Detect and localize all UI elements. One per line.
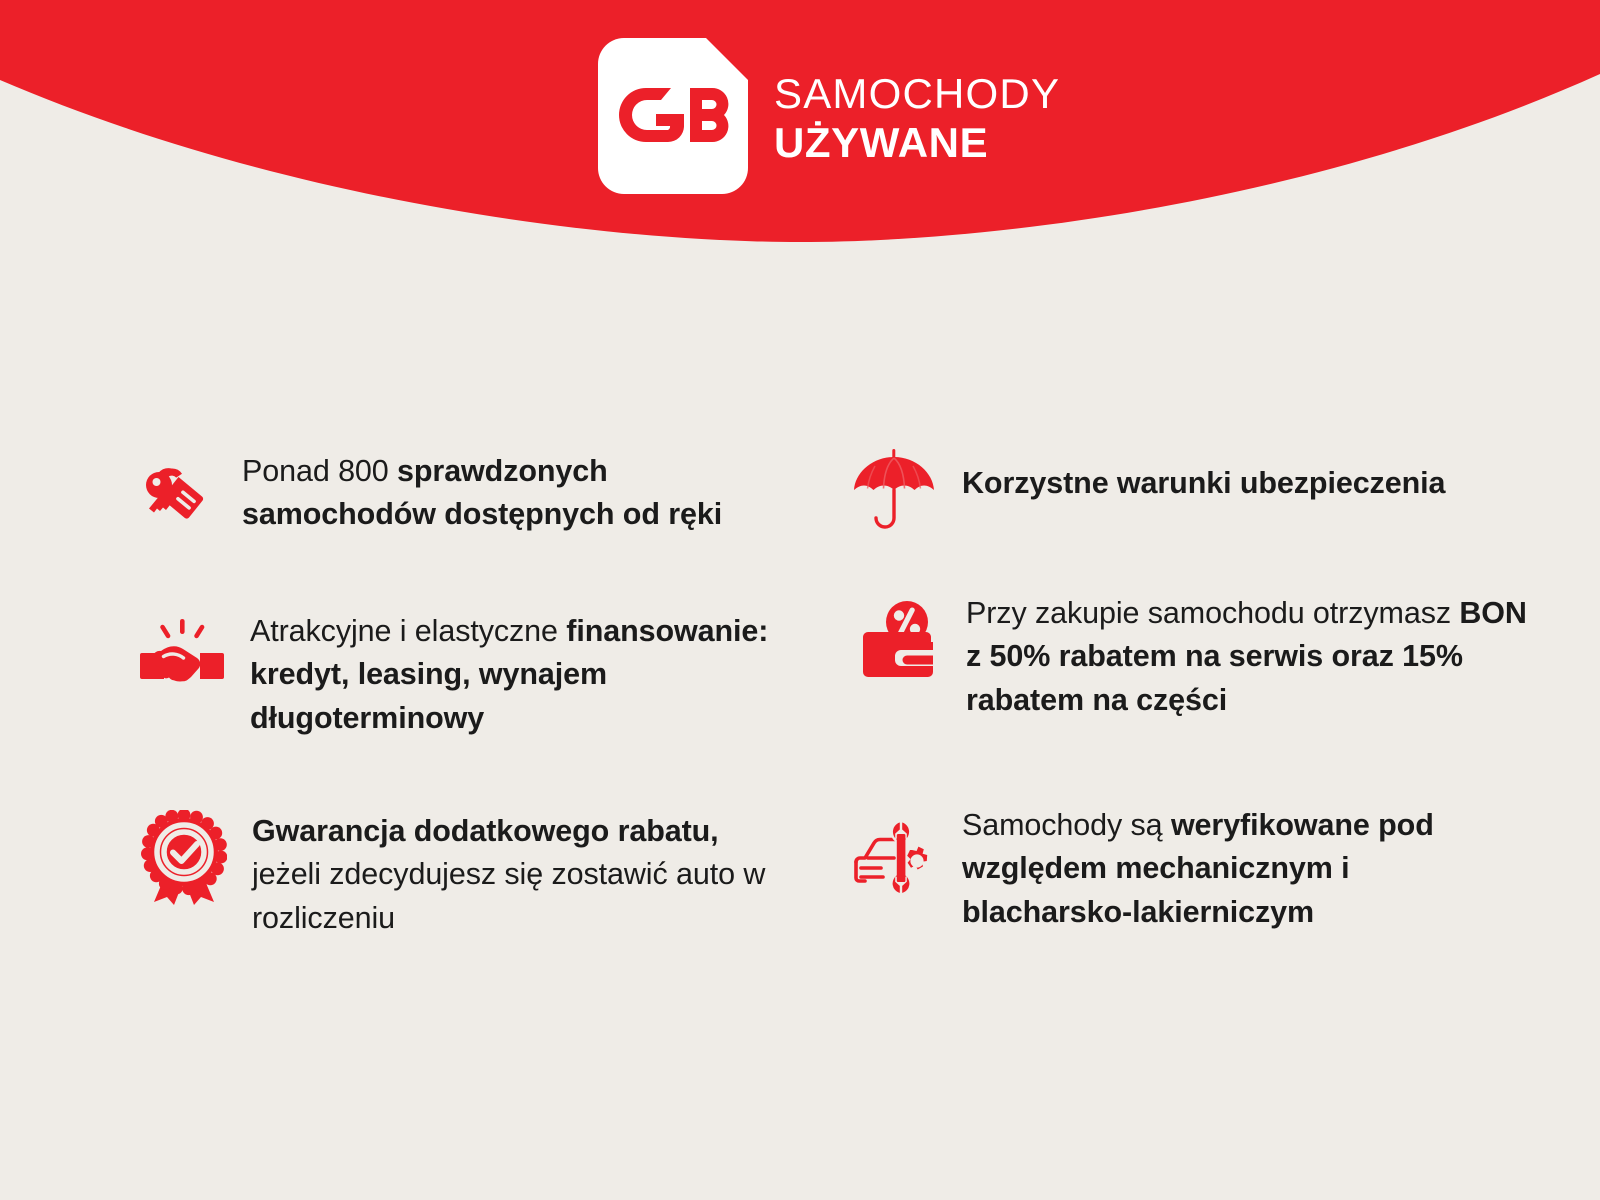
logo-lockup[interactable]: SAMOCHODY UŻYWANE <box>598 32 1058 200</box>
gb-monogram-svg <box>598 38 748 194</box>
umbrella-icon <box>848 440 940 540</box>
benefit-text: Korzystne warunki ubezpieczenia <box>962 440 1445 505</box>
logo-line-samochody: SAMOCHODY <box>774 73 1060 115</box>
car-wrench-gear-icon <box>848 802 940 902</box>
benefit-text: Ponad 800 sprawdzonych samochodów dostęp… <box>242 448 788 537</box>
benefit-item: Atrakcyjne i elastyczne finansowanie: kr… <box>136 608 788 740</box>
award-rosette-icon <box>138 808 230 908</box>
benefit-item: Ponad 800 sprawdzonych samochodów dostęp… <box>128 448 788 548</box>
handshake-icon <box>136 608 228 708</box>
benefit-item: Korzystne warunki ubezpieczenia <box>848 440 1445 540</box>
gb-monogram-icon <box>598 38 748 194</box>
wallet-percent-icon <box>852 590 944 690</box>
logo-line-uzywane: UŻYWANE <box>774 122 1060 164</box>
benefit-text: Samochody są weryfikowane pod względem m… <box>962 802 1528 934</box>
car-keys-icon <box>128 448 220 548</box>
benefit-item: Przy zakupie samochodu otrzymasz BON z 5… <box>852 590 1528 722</box>
logo-wordmark: SAMOCHODY UŻYWANE <box>774 69 1060 164</box>
benefit-text: Przy zakupie samochodu otrzymasz BON z 5… <box>966 590 1528 722</box>
benefit-item: Samochody są weryfikowane pod względem m… <box>848 802 1528 934</box>
benefit-text: Gwarancja dodatkowego rabatu, jeżeli zde… <box>252 808 788 940</box>
benefit-text: Atrakcyjne i elastyczne finansowanie: kr… <box>250 608 788 740</box>
benefit-item: Gwarancja dodatkowego rabatu, jeżeli zde… <box>138 808 788 940</box>
